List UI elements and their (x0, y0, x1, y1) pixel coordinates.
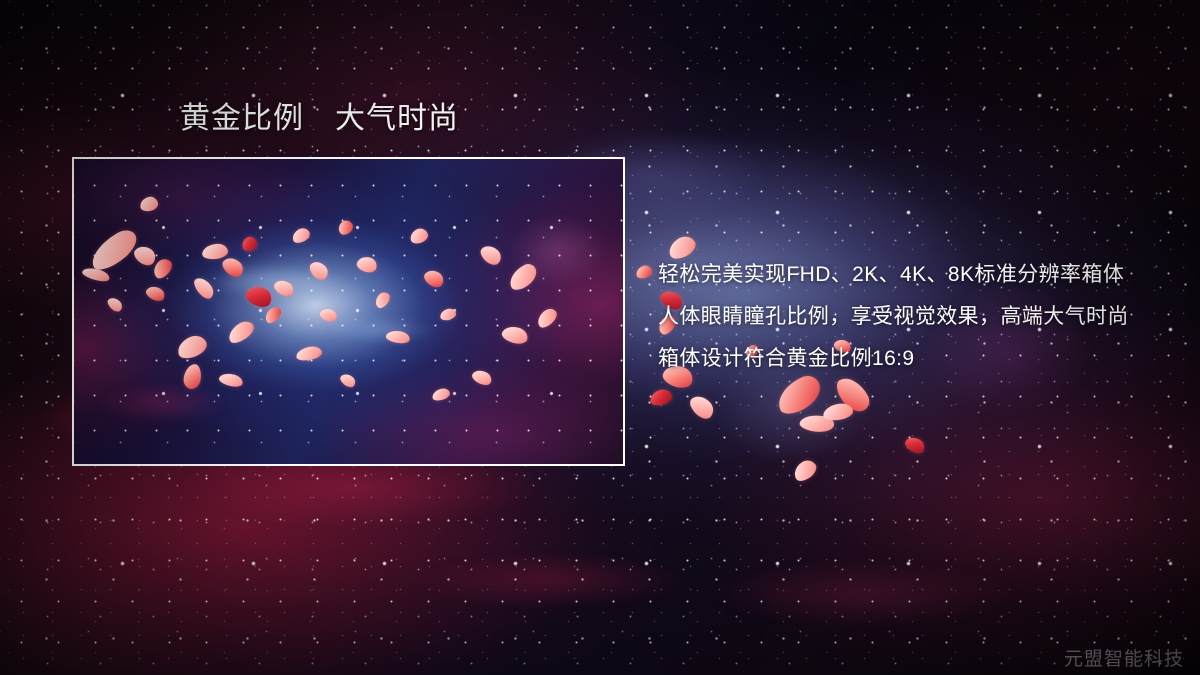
flower-petal (338, 371, 357, 389)
flower-petal (477, 242, 504, 269)
flower-petal (903, 434, 927, 456)
flower-petal (182, 363, 202, 390)
flower-petal (355, 254, 379, 274)
flower-petal (649, 388, 674, 408)
preview-nebula-wisps (74, 159, 623, 464)
flower-petal (686, 391, 717, 422)
flower-petal (218, 371, 244, 388)
body-text-line: 轻松完美实现FHD、2K、4K、8K标准分辨率箱体 (658, 254, 1178, 296)
flower-petal (272, 277, 296, 299)
framed-preview-image (72, 157, 625, 466)
flower-petal (240, 235, 259, 253)
flower-petal (505, 261, 541, 293)
flower-petal (500, 324, 529, 347)
flower-petal (243, 283, 274, 311)
flower-petal (295, 345, 323, 362)
flower-petal (150, 256, 175, 282)
flower-petal (318, 306, 338, 323)
flower-petal (219, 254, 246, 280)
flower-petal (799, 412, 836, 436)
flower-petal (385, 329, 411, 345)
flower-petal (174, 332, 209, 362)
flower-petal (85, 226, 143, 275)
preview-starfield (74, 159, 623, 464)
preview-bright-stars (74, 159, 623, 464)
flower-petal (144, 283, 167, 303)
flower-petal (307, 258, 331, 283)
flower-petal (105, 295, 124, 314)
page-title: 黄金比例 大气时尚 (180, 101, 459, 137)
flower-petal (225, 318, 257, 347)
preview-nebula (74, 159, 623, 464)
flower-petal (191, 274, 217, 302)
watermark: 元盟智能科技 (1064, 648, 1184, 672)
flower-petal (81, 265, 111, 283)
flower-petal (431, 387, 451, 403)
flower-petal (290, 226, 312, 246)
flower-petal (422, 267, 447, 291)
flower-petal (262, 304, 283, 325)
body-text-block: 轻松完美实现FHD、2K、4K、8K标准分辨率箱体 人体眼睛瞳孔比例，享受视觉效… (658, 254, 1178, 380)
flower-petal (635, 264, 654, 280)
flower-petal (534, 305, 560, 330)
flower-petal (790, 457, 819, 485)
flower-petal (439, 307, 457, 322)
flower-petal (408, 226, 430, 245)
flower-petal (372, 290, 392, 311)
flower-petal (131, 242, 159, 269)
body-text-line: 箱体设计符合黄金比例16:9 (658, 338, 1178, 380)
flower-petal (470, 367, 494, 387)
body-text-line: 人体眼睛瞳孔比例，享受视觉效果，高端大气时尚 (658, 296, 1178, 338)
flower-petal (139, 195, 160, 212)
presentation-slide: 黄金比例 大气时尚 轻松完美实现FHD、2K、4K、8K标准分辨率箱体 人体眼睛… (0, 0, 1200, 675)
flower-petal (822, 402, 854, 422)
flower-petal (201, 243, 228, 261)
flower-petal (336, 218, 356, 237)
